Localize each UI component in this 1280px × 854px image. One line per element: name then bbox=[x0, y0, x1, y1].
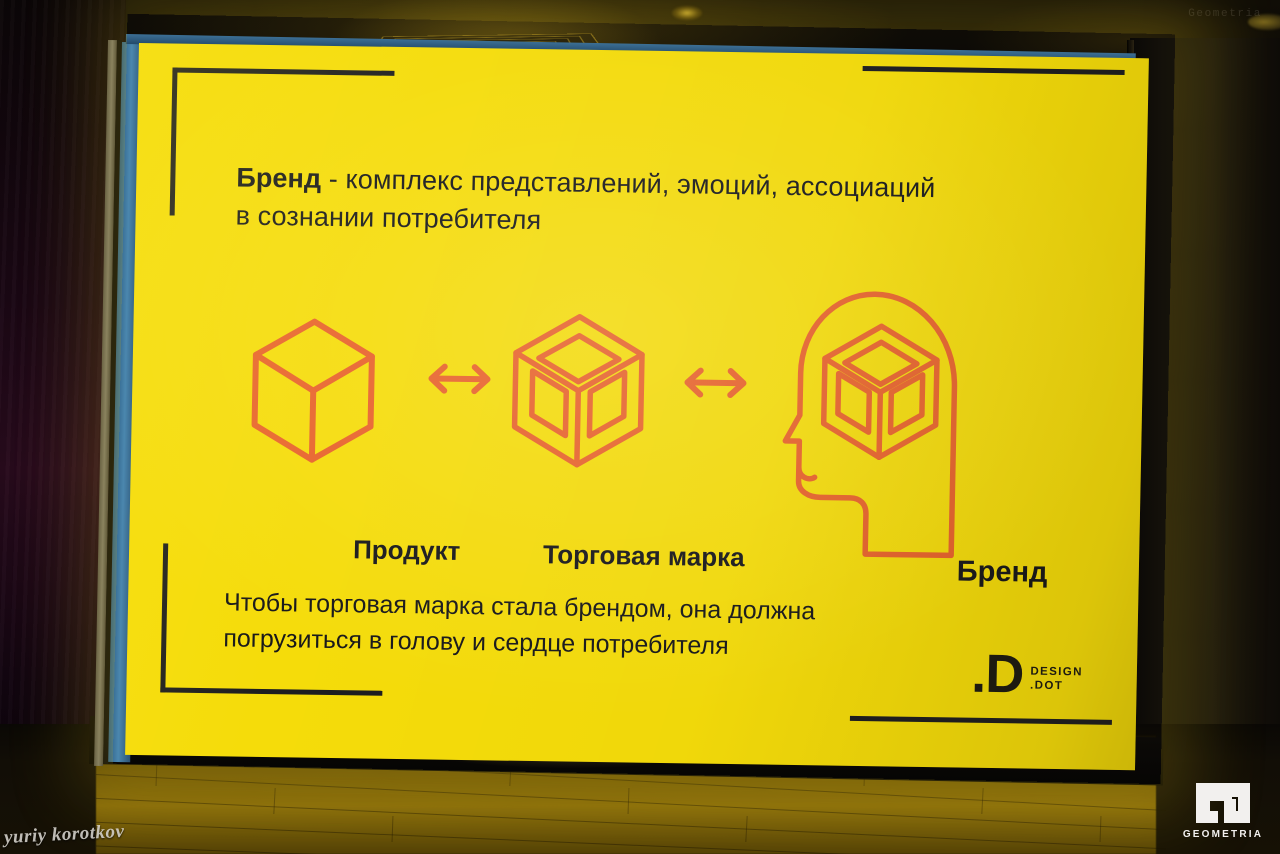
corner-bracket-bottom-right bbox=[850, 716, 1112, 725]
right-wall-pillar bbox=[1130, 38, 1280, 838]
brand-progression-diagram bbox=[225, 272, 1090, 565]
watermark-top-right: Geometria bbox=[1188, 8, 1262, 20]
photo-scene: Бренд - комплекс представлений, эмоций, … bbox=[0, 0, 1280, 854]
headline-term: Бренд bbox=[236, 162, 321, 193]
head-with-cube-icon bbox=[773, 281, 989, 569]
ceiling-lamp-icon bbox=[672, 6, 702, 20]
geometria-watermark: GEOMETRIA bbox=[1180, 781, 1266, 840]
label-product: Продукт bbox=[353, 534, 461, 567]
logo-wordmark: DESIGN .DOT bbox=[1030, 666, 1083, 698]
design-dot-logo: .D DESIGN .DOT bbox=[971, 652, 1083, 698]
corner-bracket-top-left-horizontal bbox=[172, 68, 394, 76]
cube-inset-faces-icon bbox=[507, 311, 650, 478]
corner-bracket-top-right bbox=[863, 66, 1125, 75]
logo-sub-line-1: DESIGN bbox=[1030, 666, 1083, 679]
corner-bracket-bottom-left-horizontal bbox=[160, 687, 382, 695]
logo-sub-line-2: .DOT bbox=[1030, 680, 1083, 693]
cube-outline-icon bbox=[247, 315, 380, 472]
double-arrow-icon bbox=[424, 361, 495, 401]
projected-slide: Бренд - комплекс представлений, эмоций, … bbox=[125, 43, 1149, 770]
geometria-wordmark: GEOMETRIA bbox=[1183, 829, 1263, 840]
corner-bracket-top-left-vertical bbox=[170, 68, 178, 216]
logo-mark: .D bbox=[971, 652, 1024, 697]
slide-canvas: Бренд - комплекс представлений, эмоций, … bbox=[125, 43, 1149, 770]
double-arrow-icon bbox=[680, 365, 751, 405]
label-trademark: Торговая марка bbox=[543, 539, 745, 573]
slide-headline: Бренд - комплекс представлений, эмоций, … bbox=[235, 158, 1016, 246]
headline-definition: - комплекс представлений, эмоций, ассоци… bbox=[321, 164, 936, 203]
slide-footnote: Чтобы торговая марка стала брендом, она … bbox=[223, 584, 944, 667]
corner-bracket-bottom-left-vertical bbox=[160, 543, 168, 692]
geometria-g-icon bbox=[1194, 781, 1252, 825]
label-brand: Бренд bbox=[956, 555, 1047, 589]
